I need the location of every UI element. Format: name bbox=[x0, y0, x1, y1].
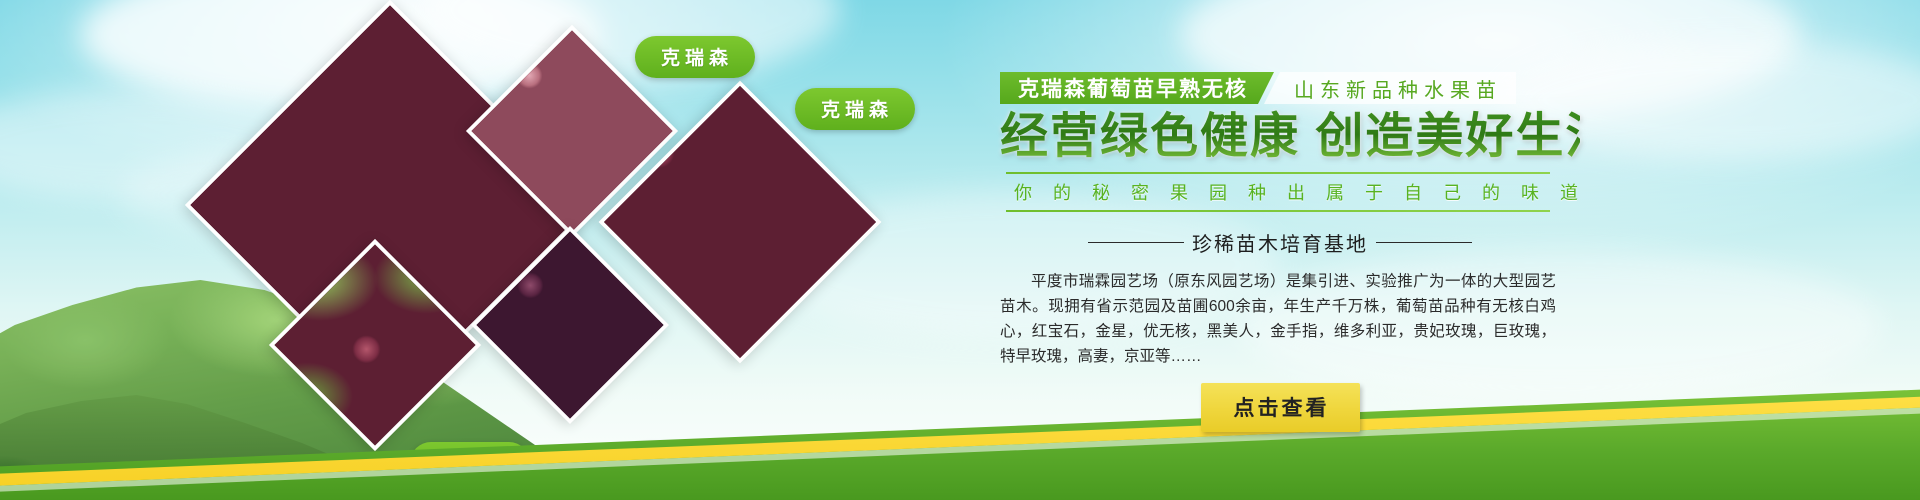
view-details-button[interactable]: 点击查看 bbox=[1201, 383, 1360, 432]
banner-text-block: 克瑞森葡萄苗早熟无核 山东新品种水果苗 经营绿色健康 创造美好生活 你 的 秘 … bbox=[1000, 72, 1580, 432]
photo-label-text: 克瑞森 bbox=[661, 43, 733, 70]
section-dash-left bbox=[1088, 242, 1184, 243]
subline-wrapper: 你 的 秘 密 果 园 种 出 属 于 自 己 的 味 道 bbox=[1006, 172, 1550, 212]
section-title: 珍稀苗木培育基地 bbox=[1000, 228, 1560, 257]
section-dash-right bbox=[1376, 242, 1472, 243]
subline: 你 的 秘 密 果 园 种 出 属 于 自 己 的 味 道 bbox=[1006, 174, 1550, 210]
tag-primary: 克瑞森葡萄苗早熟无核 bbox=[1000, 72, 1274, 104]
photo-label-pill: 克瑞森 bbox=[795, 88, 915, 130]
tag-secondary-label: 山东新品种水果苗 bbox=[1294, 74, 1502, 103]
photo-label-pill: 克瑞森 bbox=[635, 36, 755, 78]
photo-label-text: 克瑞森 bbox=[821, 95, 893, 122]
divider-bottom bbox=[1006, 210, 1550, 212]
tag-secondary: 山东新品种水果苗 bbox=[1264, 72, 1516, 104]
headline: 经营绿色健康 创造美好生活 bbox=[1000, 110, 1580, 164]
tag-primary-label: 克瑞森葡萄苗早熟无核 bbox=[1018, 73, 1248, 103]
body-copy: 平度市瑞霖园艺场（原东风园艺场）是集引进、实验推广为一体的大型园艺苗木。现拥有省… bbox=[1000, 269, 1556, 369]
cta-wrapper: 点击查看 bbox=[1000, 383, 1560, 432]
banner-stage: 克瑞森 克瑞森 克瑞森 克瑞森 克瑞森葡萄苗早熟无核 山东新品种水果苗 经营绿色… bbox=[0, 0, 1920, 500]
tag-row: 克瑞森葡萄苗早熟无核 山东新品种水果苗 bbox=[1000, 72, 1580, 104]
section-title-text: 珍稀苗木培育基地 bbox=[1192, 228, 1368, 257]
